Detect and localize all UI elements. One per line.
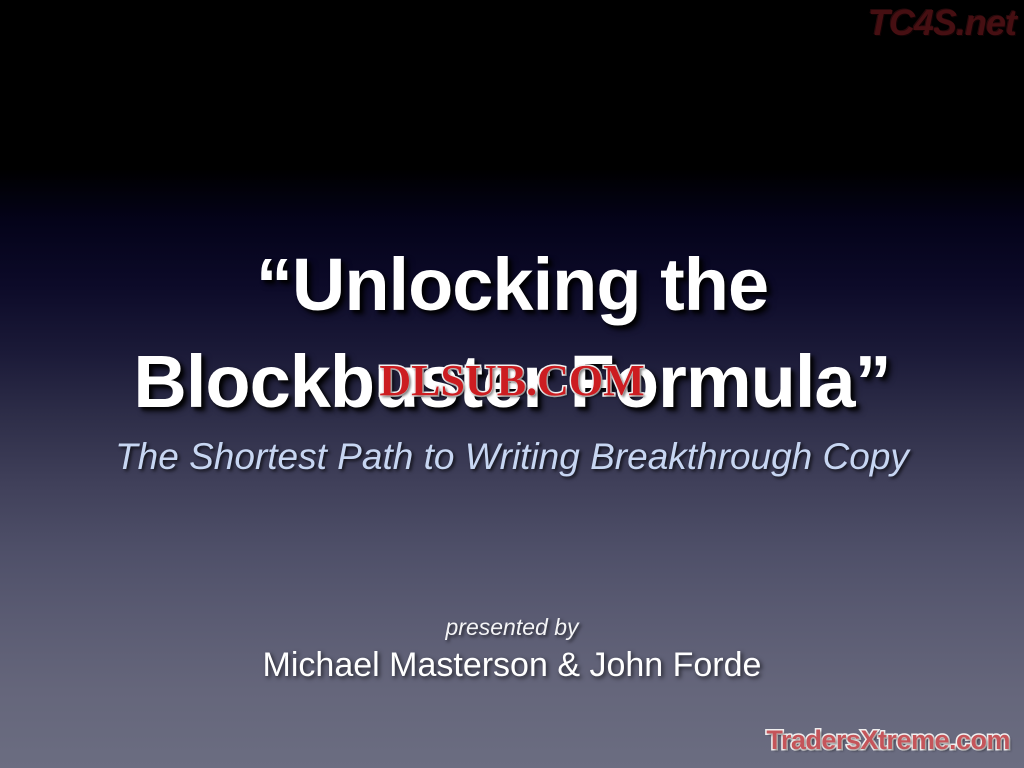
slide-title: “Unlocking the Blockbuster Formula” <box>0 236 1024 430</box>
title-line-1: “Unlocking the <box>0 236 1024 333</box>
presentation-slide: TC4S.net “Unlocking the Blockbuster Form… <box>0 0 1024 768</box>
watermark-bottom-right: TradersXtreme.com <box>766 725 1010 756</box>
title-line-2: Blockbuster Formula” <box>0 333 1024 430</box>
presenter-names: Michael Masterson & John Forde <box>0 644 1024 686</box>
slide-subtitle: The Shortest Path to Writing Breakthroug… <box>0 434 1024 480</box>
presented-by-label: presented by <box>0 613 1024 641</box>
watermark-top-right: TC4S.net <box>868 2 1016 44</box>
